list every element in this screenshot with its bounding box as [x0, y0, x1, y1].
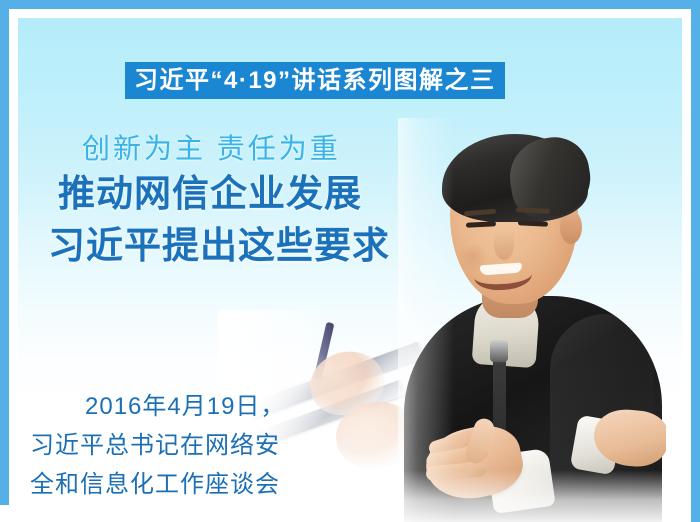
infographic-poster: 习近平“4·19”讲话系列图解之三 创新为主 责任为重 推动网信企业发展 习近平… [0, 0, 700, 522]
headline-line-2: 习近平提出这些要求 [48, 220, 466, 273]
headline-block: 创新为主 责任为重 推动网信企业发展 习近平提出这些要求 [46, 130, 466, 273]
caption-line-3: 全和信息化工作座谈会 [30, 466, 330, 505]
frame-border-top [0, 0, 700, 9]
series-banner: 习近平“4·19”讲话系列图解之三 [125, 62, 505, 99]
zipper-pull [490, 340, 508, 362]
caption-line-1: 2016年4月19日， [85, 388, 330, 427]
headline-subtitle: 创新为主 责任为重 [82, 130, 466, 168]
nose [494, 230, 514, 260]
headline-line-1: 推动网信企业发展 [58, 168, 466, 221]
frame-border-left [0, 0, 9, 505]
caption-block: 2016年4月19日， 习近平总书记在网络安 全和信息化工作座谈会 [30, 388, 330, 505]
caption-line-2: 习近平总书记在网络安 [30, 427, 330, 466]
frame-border-right [691, 0, 700, 522]
series-banner-text: 习近平“4·19”讲话系列图解之三 [134, 69, 496, 93]
